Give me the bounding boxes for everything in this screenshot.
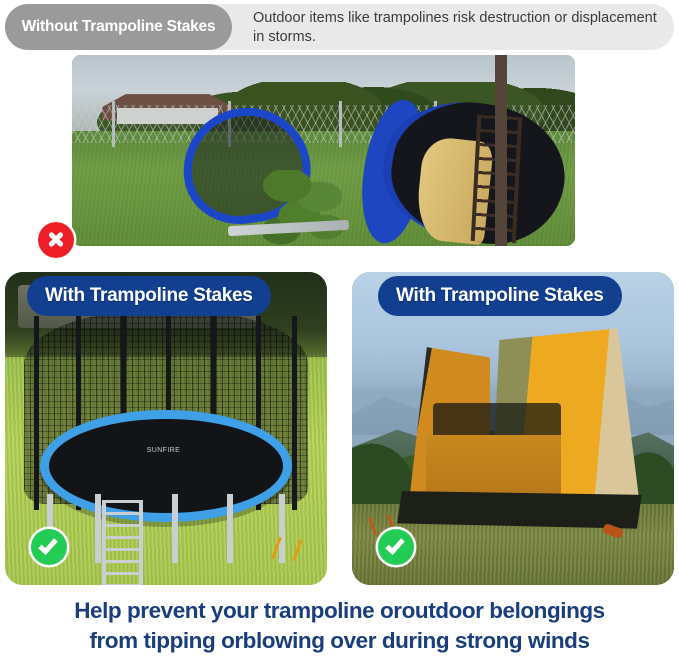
fence-post <box>339 101 342 147</box>
panel-with-stakes-trampoline: SUNFIRE With Trampoline Stakes <box>5 272 327 585</box>
trampoline-leg <box>227 494 233 563</box>
shrub <box>263 170 343 246</box>
panel-badge-right: With Trampoline Stakes <box>378 276 622 316</box>
fence-post <box>112 101 115 147</box>
trampoline-leg <box>95 494 101 563</box>
panel-badge-label: With Trampoline Stakes <box>45 285 253 307</box>
panel-badge-label: With Trampoline Stakes <box>396 285 604 307</box>
brand-mark: SUNFIRE <box>147 447 181 454</box>
tent-floor-skirt <box>397 491 642 529</box>
enclosure-pole <box>292 316 297 510</box>
check-icon <box>378 529 414 565</box>
footer-caption-line-2: from tipping orblowing over during stron… <box>0 626 679 656</box>
panel-badge-left: With Trampoline Stakes <box>27 276 271 316</box>
header-bar: Without Trampoline Stakes Outdoor items … <box>5 4 674 50</box>
check-stroke <box>38 535 57 555</box>
trampoline-ladder <box>102 500 144 585</box>
close-icon <box>38 222 74 258</box>
footer-caption-line-1: Help prevent your trampoline oroutdoor b… <box>0 596 679 626</box>
check-icon <box>31 529 67 565</box>
utility-pole <box>495 55 507 246</box>
trampoline-leg <box>172 494 178 563</box>
header-description: Outdoor items like trampolines risk dest… <box>253 9 663 47</box>
panel-with-stakes-tent: With Trampoline Stakes <box>352 272 674 585</box>
trampoline-mat-and-pad <box>40 410 291 523</box>
check-stroke <box>385 535 404 555</box>
photo-without-stakes <box>72 55 575 246</box>
footer-caption: Help prevent your trampoline oroutdoor b… <box>0 596 679 656</box>
header-badge-label: Without Trampoline Stakes <box>22 18 216 36</box>
header-badge: Without Trampoline Stakes <box>5 4 232 50</box>
enclosure-pole <box>34 316 39 510</box>
